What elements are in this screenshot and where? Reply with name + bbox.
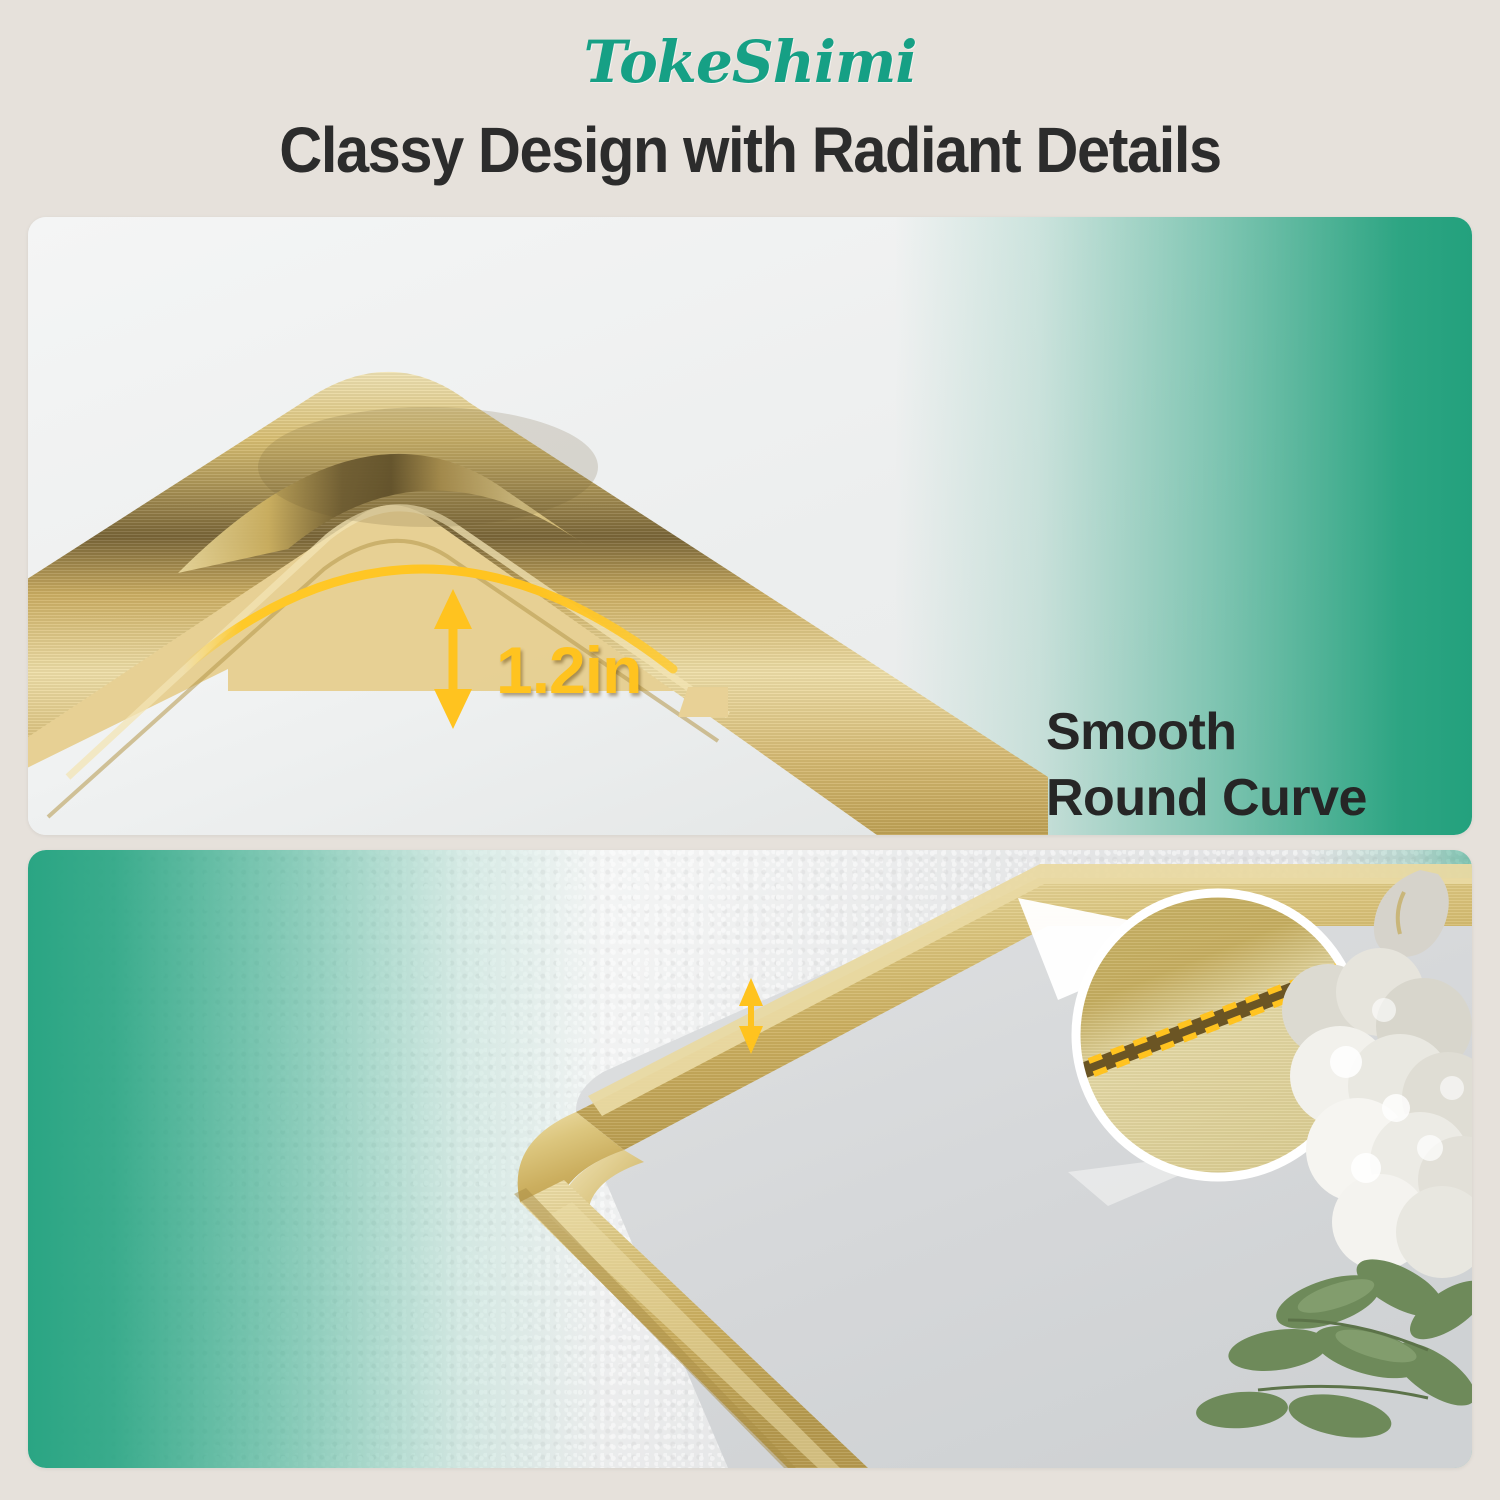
callout-smooth-round-curve: Smooth Round Curve [1046, 700, 1367, 831]
brand-logo-tokeshimi: TokeShimi [0, 28, 1500, 96]
floating-effect-panel: Better Floating Effect Attractive Brushe… [28, 850, 1472, 1468]
page-title: Classy Design with Radiant Details [53, 113, 1448, 187]
page-root: TokeShimi Classy Design with Radiant Det… [0, 0, 1500, 1500]
smooth-round-curve-panel: Smooth Round Curve 1.2in [28, 217, 1472, 835]
gold-frame-illustration-bottom [28, 850, 1472, 1468]
dimension-label-1-2in: 1.2in [496, 632, 641, 708]
